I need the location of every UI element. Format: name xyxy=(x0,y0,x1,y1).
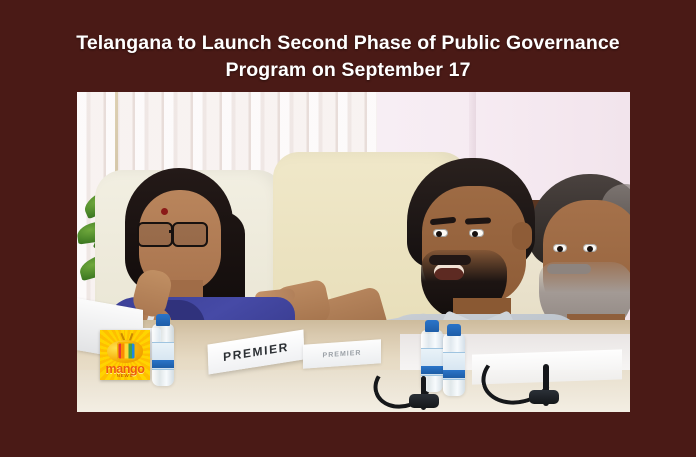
person-centre-pupil-left xyxy=(436,231,442,237)
person-right-pupil-right xyxy=(587,246,593,252)
water-bottle-1 xyxy=(152,324,174,386)
logo-subtitle: NEWS xyxy=(100,373,150,378)
person-centre-moustache xyxy=(429,255,471,265)
person-right-pupil-left xyxy=(557,246,563,252)
nameplate-premier-secondary-text: PREMIER xyxy=(323,349,362,359)
person-left-bindi xyxy=(161,208,168,215)
nameplate-premier-text: PREMIER xyxy=(223,340,289,364)
person-centre-mouth xyxy=(434,264,464,280)
tv-screen-icon xyxy=(117,342,136,360)
water-bottle-3 xyxy=(443,334,465,396)
mango-news-logo: mango NEWS xyxy=(100,330,150,380)
bottle-label-band-3 xyxy=(443,370,465,378)
person-centre-pupil-right xyxy=(472,231,478,237)
bottle-cap-2 xyxy=(425,320,439,332)
person-centre-ear xyxy=(512,222,532,250)
bottle-cap-3 xyxy=(447,324,461,336)
person-left-eyeglass-bridge xyxy=(169,230,174,233)
page-title: Telangana to Launch Second Phase of Publ… xyxy=(48,30,648,84)
person-left-eyeglass-right xyxy=(172,222,208,247)
person-right-moustache xyxy=(547,264,591,274)
news-card: Telangana to Launch Second Phase of Publ… xyxy=(0,0,696,457)
news-photo: PREMIER PREMIER mango NEWS xyxy=(77,92,630,412)
bottle-label-band-1 xyxy=(152,360,174,368)
person-left-eyeglass-left xyxy=(137,222,173,247)
bottle-cap-1 xyxy=(156,314,170,326)
